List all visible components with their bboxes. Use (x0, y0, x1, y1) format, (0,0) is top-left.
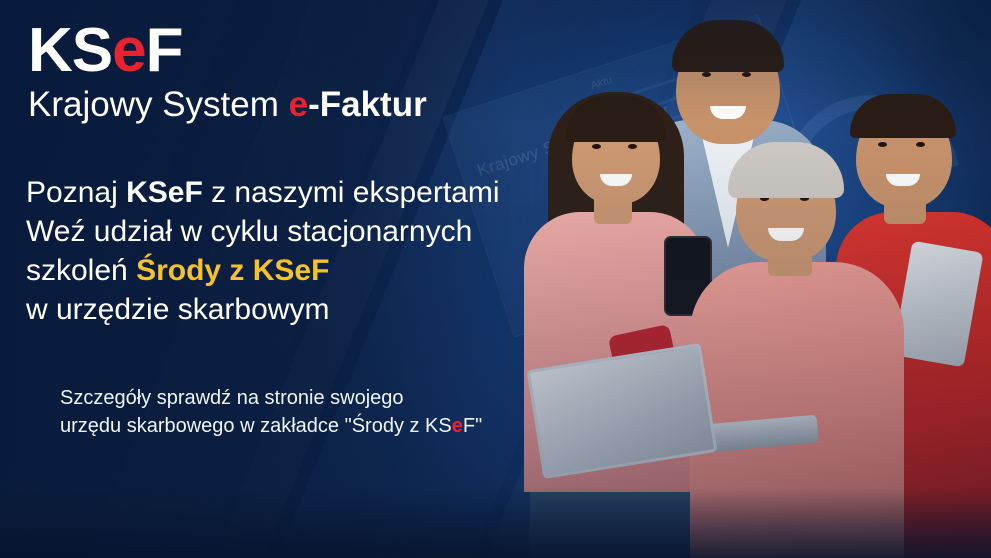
banner-text-block: KSeF Krajowy System e-Faktur Poznaj KSeF… (26, 20, 546, 440)
person-man-red-polo-neck (884, 186, 926, 224)
person-woman-salmon-torso (690, 262, 904, 558)
logo-subtitle-post: -Faktur (308, 85, 427, 124)
smile (768, 228, 804, 241)
ghost-screenshot-menu-label: Aktu (589, 74, 614, 92)
smartphone-red (608, 324, 678, 382)
logo-subtitle: Krajowy System e-Faktur (28, 86, 546, 125)
person-man-blue-shirt-head (676, 26, 780, 144)
background-glow (830, 300, 991, 558)
person-man-blue-shirt-neck (706, 98, 750, 138)
eye (628, 144, 637, 149)
footnote-line-2-post: F" (463, 415, 482, 437)
headline-line-2: Weź udział w cyklu stacjonarnych (26, 212, 546, 251)
headline-line-3: szkoleń Środy z KSeF (26, 251, 546, 290)
ghost-line (627, 98, 733, 135)
eye (592, 144, 601, 149)
person-woman-pink-hair-back (548, 92, 684, 302)
person-woman-pink-head (572, 104, 660, 204)
eye (878, 142, 887, 147)
smile (600, 174, 632, 186)
person-man-blue-shirt-collar (700, 128, 756, 248)
ghost-line (621, 87, 708, 118)
person-woman-salmon-hair (728, 142, 844, 198)
ghost-line (616, 60, 731, 100)
smartphone-black (664, 236, 712, 316)
person-man-blue-shirt-hair (672, 20, 784, 72)
headline-line-1-post: z naszymi ekspertami (203, 176, 500, 209)
ghost-letter-mark: e-F (800, 387, 991, 558)
headline: Poznaj KSeF z naszymi ekspertami Weź udz… (26, 173, 546, 329)
logo-part-1: KS (28, 16, 112, 85)
footnote-accent-e: e (452, 415, 463, 437)
person-man-red-polo-torso (836, 212, 991, 558)
headline-line-1: Poznaj KSeF z naszymi ekspertami (26, 173, 546, 212)
eye (760, 196, 769, 201)
headline-line-1-bold: KSeF (126, 176, 203, 209)
eye (916, 142, 925, 147)
diagonal-stripe (515, 0, 991, 558)
background-glow (600, 40, 940, 340)
person-woman-pink-jeans (530, 440, 698, 558)
footnote: Szczegóły sprawdź na stronie swojego urz… (60, 384, 546, 441)
headline-line-4: w urzędzie skarbowym (26, 290, 546, 329)
ghost-arc-shape (760, 72, 984, 296)
laptop-screen (526, 343, 717, 479)
footnote-line-1: Szczegóły sprawdź na stronie swojego (60, 384, 546, 412)
person-woman-pink-neck (594, 188, 632, 224)
eye (702, 72, 711, 77)
ksef-promo-banner: Krajowy System e-Faktur Aktu e-F (0, 0, 991, 558)
smile (886, 174, 920, 186)
ksef-logo: KSeF (28, 20, 546, 82)
person-woman-salmon-head (736, 150, 836, 262)
eye (800, 196, 809, 201)
bottom-fade-overlay (0, 488, 991, 558)
tablet-device (892, 241, 983, 368)
person-man-red-polo-head (856, 100, 952, 208)
person-man-blue-shirt-torso (626, 120, 826, 400)
headline-line-3-pre: szkoleń (26, 254, 136, 287)
footnote-line-2-pre: urzędu skarbowego w zakładce "Środy z KS (60, 415, 452, 437)
headline-highlight-srody-z-ksef: Środy z KSeF (136, 254, 329, 287)
logo-subtitle-accent-e: e (289, 85, 308, 124)
person-woman-pink-torso (524, 212, 706, 492)
headline-line-1-pre: Poznaj (26, 176, 126, 209)
footnote-line-2: urzędu skarbowego w zakładce "Środy z KS… (60, 412, 546, 440)
logo-subtitle-pre: Krajowy System (28, 85, 289, 124)
logo-accent-e: e (112, 16, 145, 85)
laptop-keyboard (603, 415, 819, 462)
person-woman-pink-hair (566, 96, 666, 142)
person-man-red-polo-hair (850, 94, 956, 138)
smile (710, 106, 746, 119)
eye (742, 72, 751, 77)
logo-part-2: F (146, 16, 183, 85)
person-woman-salmon-neck (768, 236, 812, 276)
